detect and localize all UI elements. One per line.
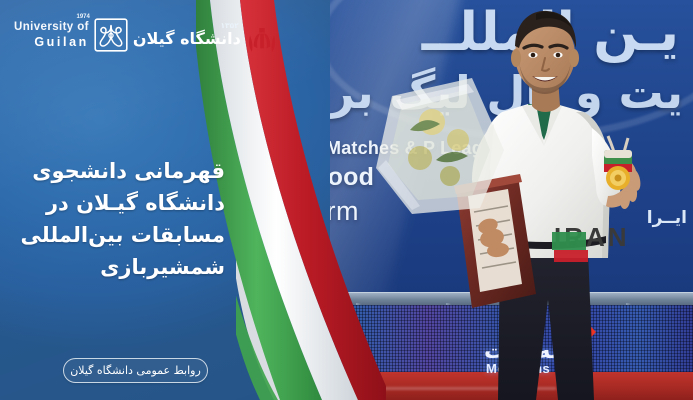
- logo-english-line2: Guilan: [34, 36, 89, 49]
- flower-bouquet: [376, 78, 504, 214]
- medal: [604, 136, 632, 190]
- logo-english-line1: University of: [14, 21, 89, 33]
- headline-line-1: قهرمانی دانشجوی: [10, 156, 225, 188]
- headline-line-4: شمشیربازی: [10, 252, 225, 284]
- promotional-banner: یـن المللــ یت و نال لیگ برتر Satellite …: [0, 0, 693, 400]
- headline-line-3: مسابقات بین‌المللی: [10, 220, 225, 252]
- university-of-guilan-logo[interactable]: 1974 University of Guilan ۱۳۵۲ دانشگاه گ…: [14, 18, 241, 52]
- photo-corner-flag-strip: [236, 250, 326, 400]
- logo-founded-year-fa: ۱۳۵۲: [221, 22, 239, 30]
- logo-persian-text: ۱۳۵۲ دانشگاه گیلان: [133, 22, 241, 48]
- public-relations-badge[interactable]: روابط عمومی دانشگاه گیلان: [63, 358, 208, 383]
- guilan-university-emblem-icon: [94, 18, 128, 52]
- logo-english-text: 1974 University of Guilan: [14, 22, 89, 48]
- public-relations-badge-label: روابط عمومی دانشگاه گیلان: [70, 364, 201, 377]
- logo-founded-year-en: 1974: [77, 14, 90, 20]
- headline-line-2: دانشگاه گیـلان در: [10, 188, 225, 220]
- logo-persian-name: دانشگاه گیلان: [133, 30, 241, 48]
- page-title: قهرمانی دانشجوی دانشگاه گیـلان در مسابقا…: [10, 156, 225, 284]
